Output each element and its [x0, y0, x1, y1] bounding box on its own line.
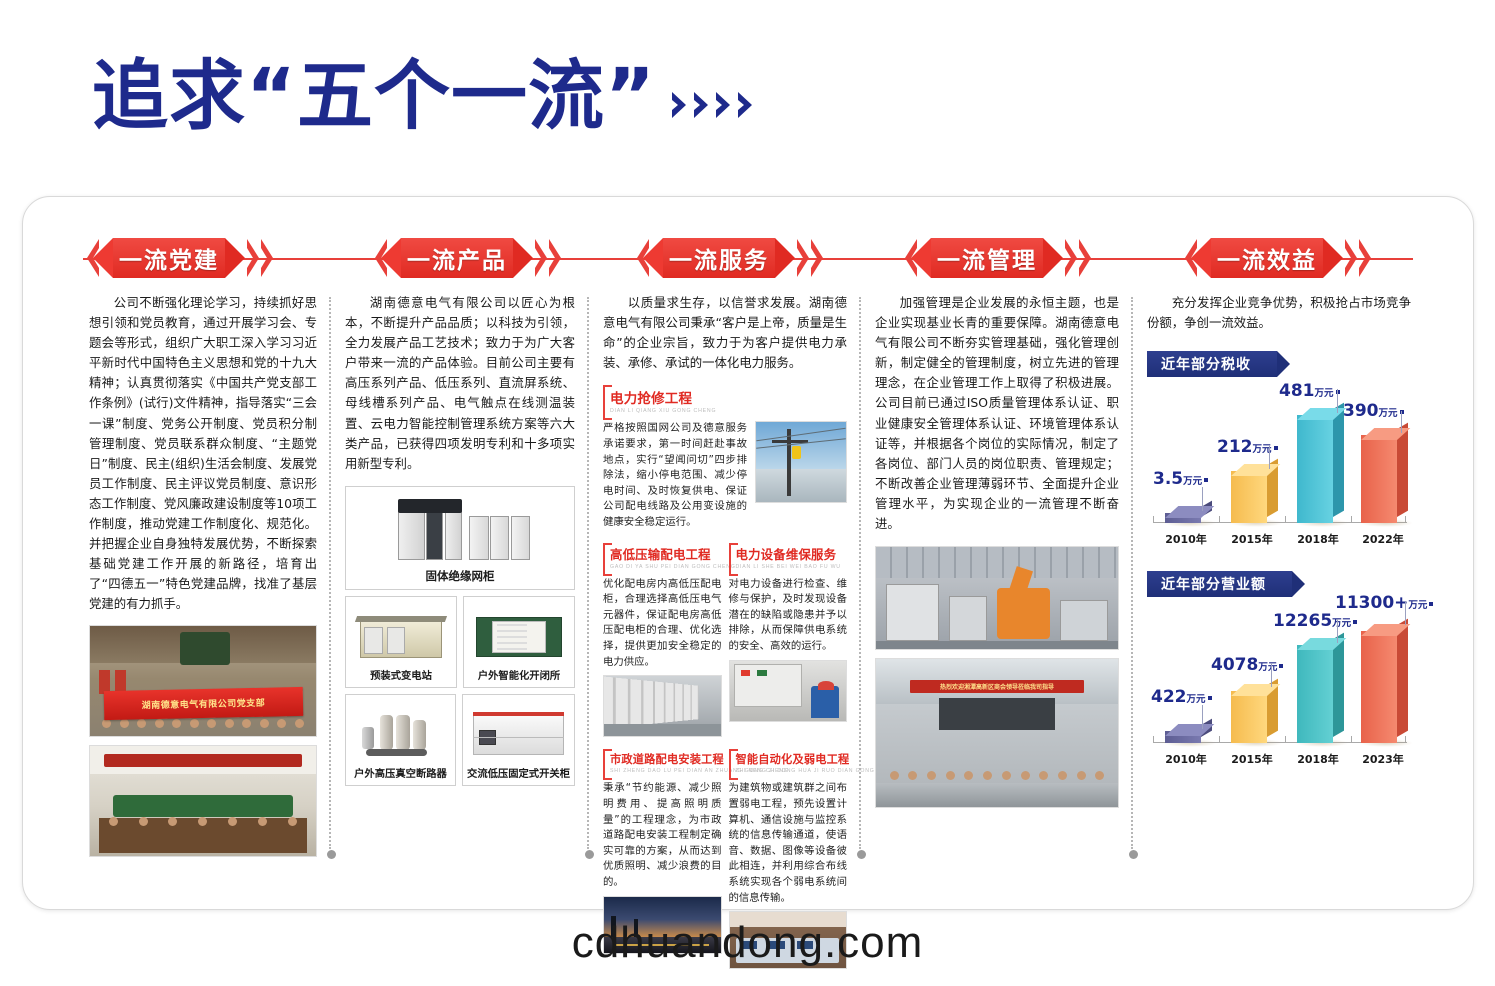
- chart-category-label: 2022年: [1362, 531, 1404, 547]
- section-header-service[interactable]: 一流服务: [633, 233, 827, 283]
- chart-category-label: 2018年: [1297, 531, 1339, 547]
- photo-party-meeting: [89, 745, 317, 857]
- column-product: 湖南德意电气有限公司以匠心为根本，不断提升产品品质；以科技为引领，全力发展产品工…: [331, 293, 589, 885]
- service-heading: 电力抢修工程 DIAN LI QIANG XIU GONG CHENG: [603, 385, 720, 416]
- chart-category-label: 2010年: [1165, 531, 1207, 547]
- service-title: 电力抢修工程: [610, 387, 716, 407]
- chart-tax-revenue: 3.5万元 2010年 212万元 2015年: [1147, 381, 1411, 549]
- section-header-label: 一流党建: [119, 241, 219, 275]
- column-body-text: 充分发挥企业竞争优势，积极抢占市场竞争份额，争创一流效益。: [1147, 293, 1411, 333]
- product-image: [350, 701, 451, 761]
- chart-category-label: 2023年: [1362, 751, 1404, 767]
- product-row: 预装式变电站 户外智能化开闭所: [345, 596, 575, 688]
- service-pinyin: GAO DI YA SHU PEI DIAN GONG CHENG: [610, 564, 736, 570]
- product-caption: 预装式变电站: [370, 667, 432, 682]
- service-block: 严格按照国网公司及德意服务承诺要求，第一时间赶赴事故地点，实行“望闻问切”四步排…: [603, 417, 847, 530]
- column-body-text: 以质量求生存，以信誉求发展。湖南德意电气有限公司秉承“客户是上帝，质量是生命”的…: [603, 293, 847, 373]
- chart-bar: [1231, 471, 1267, 523]
- service-block: 高低压输配电工程 GAO DI YA SHU PEI DIAN GONG CHE…: [603, 531, 722, 738]
- chart-value-label: 422万元: [1151, 687, 1212, 707]
- product-image: [350, 603, 452, 663]
- service-pinyin: DIAN LI SHE BEI WEI BAO FU WU: [736, 564, 841, 570]
- chart-value-label: 4078万元: [1211, 655, 1283, 675]
- section-header-pill: 一流党建: [113, 238, 225, 278]
- chart-value-label: 11300+万元: [1335, 593, 1433, 613]
- chart-bar: [1361, 631, 1397, 743]
- chart-bar: [1297, 645, 1333, 743]
- section-header-benefit[interactable]: 一流效益: [1181, 233, 1375, 283]
- chevron-right-icon: [535, 237, 565, 279]
- chart-value-label: 390万元: [1343, 401, 1404, 421]
- site-watermark: cdhuandong.com: [0, 918, 1495, 968]
- column-management: 加强管理是企业发展的永恒主题，也是企业实现基业长青的重要保障。湖南德意电气有限公…: [861, 293, 1133, 885]
- product-image: [468, 603, 570, 663]
- product-grid: 固体绝缘网柜 预装式变电站: [345, 486, 575, 786]
- columns-container: 公司不断强化理论学习，持续抓好思想引领和党员教育，通过开展学习会、专题会等形式，…: [75, 293, 1425, 885]
- section-header-label: 一流产品: [407, 241, 507, 275]
- poster-page: 追求“五个一流”: [0, 0, 1495, 986]
- page-title: 追求“五个一流”: [92, 58, 756, 134]
- section-header-product[interactable]: 一流产品: [371, 233, 565, 283]
- section-header-pill: 一流服务: [663, 238, 775, 278]
- service-body: 对电力设备进行检查、维修与保护，及时发现设备潜在的缺陷或隐患并予以排除，从而保障…: [729, 577, 848, 655]
- photo-switchgear-room: [603, 675, 722, 737]
- product-card[interactable]: 户外智能化开闭所: [463, 596, 575, 688]
- section-header-row: 一流党建 一流产品: [83, 233, 1413, 283]
- chart-revenue-title: 近年部分营业额: [1147, 571, 1292, 597]
- chart-category-label: 2015年: [1231, 531, 1273, 547]
- chevron-right-icon: [1065, 237, 1095, 279]
- chart-bar: [1297, 415, 1333, 523]
- chart-tax-title: 近年部分税收: [1147, 351, 1277, 377]
- column-benefit: 充分发挥企业竞争优势，积极抢占市场竞争份额，争创一流效益。 近年部分税收: [1133, 293, 1425, 885]
- photo-visit-group: 热烈欢迎湘潭高新区商会领导莅临我司指导: [875, 658, 1119, 808]
- chart-value-label: 3.5万元: [1153, 469, 1208, 489]
- chart-annual-revenue: 422万元 2010年 4078万元 2015年: [1147, 601, 1411, 769]
- chart-bar: [1231, 691, 1267, 743]
- chevron-right-icon: [797, 237, 827, 279]
- service-body: 严格按照国网公司及德意服务承诺要求，第一时间赶赴事故地点，实行“望闻问切”四步排…: [603, 421, 747, 530]
- service-heading: 电力设备维保服务 DIAN LI SHE BEI WEI BAO FU WU: [729, 543, 845, 572]
- product-card[interactable]: 预装式变电站: [345, 596, 457, 688]
- chart-category-label: 2018年: [1297, 751, 1339, 767]
- photo-power-repair: [755, 421, 847, 503]
- section-header-pill: 一流产品: [401, 238, 513, 278]
- service-body: 秉承“节约能源、减少照明费用、提高照明质量”的工程理念，为市政道路配电安装工程制…: [603, 781, 722, 890]
- product-image: [467, 701, 570, 761]
- service-pair: 高低压输配电工程 GAO DI YA SHU PEI DIAN GONG CHE…: [603, 531, 847, 738]
- service-title: 电力设备维保服务: [736, 545, 841, 563]
- product-card[interactable]: 交流低压固定式开关柜: [462, 694, 575, 786]
- product-card[interactable]: 户外高压真空断路器: [345, 694, 456, 786]
- section-header-pill: 一流效益: [1211, 238, 1323, 278]
- column-party-building: 公司不断强化理论学习，持续抓好思想引领和党员教育，通过开展学习会、专题会等形式，…: [75, 293, 331, 885]
- product-card[interactable]: 固体绝缘网柜: [345, 486, 575, 590]
- service-pinyin: DIAN LI QIANG XIU GONG CHENG: [610, 408, 716, 414]
- photo-party-branch-group: 湖南德意电气有限公司党支部: [89, 625, 317, 737]
- chart-value-label: 12265万元: [1273, 611, 1357, 631]
- service-body: 为建筑物或建筑群之间布置弱电工程，预先设置计算机、通信设施与监控系统的信息传输通…: [729, 781, 848, 906]
- product-row: 固体绝缘网柜: [345, 486, 575, 590]
- chevron-decoration-icon: [670, 88, 756, 122]
- service-title: 高低压输配电工程: [610, 545, 736, 563]
- content-card: 一流党建 一流产品: [22, 196, 1474, 910]
- product-caption: 交流低压固定式开关柜: [467, 765, 570, 780]
- product-caption: 户外高压真空断路器: [354, 765, 447, 780]
- section-header-label: 一流管理: [937, 241, 1037, 275]
- chart-category-label: 2015年: [1231, 751, 1273, 767]
- product-image: [350, 493, 570, 564]
- photo-workshop-robot: [875, 546, 1119, 650]
- service-body: 优化配电房内高低压配电柜，合理选择高低压电气元器件，保证配电房高低压配电柜的合理…: [603, 577, 722, 671]
- section-header-pill: 一流管理: [931, 238, 1043, 278]
- section-header-label: 一流服务: [669, 241, 769, 275]
- service-heading: 高低压输配电工程 GAO DI YA SHU PEI DIAN GONG CHE…: [603, 543, 740, 572]
- chart-category-label: 2010年: [1165, 751, 1207, 767]
- chart-value-label: 481万元: [1279, 381, 1340, 401]
- section-header-management[interactable]: 一流管理: [901, 233, 1095, 283]
- column-service: 以质量求生存，以信誉求发展。湖南德意电气有限公司秉承“客户是上帝，质量是生命”的…: [589, 293, 861, 885]
- product-row: 户外高压真空断路器 交流低压固定式开关柜: [345, 694, 575, 786]
- photo-banner: 湖南德意电气有限公司党支部: [103, 687, 302, 720]
- chevron-right-icon: [1345, 237, 1375, 279]
- chart-bar: [1361, 435, 1397, 523]
- chart-bar: [1165, 513, 1201, 523]
- photo-banner-text: 湖南德意电气有限公司党支部: [141, 696, 265, 712]
- chart-tax-title-wrap: 近年部分税收: [1147, 351, 1411, 377]
- section-header-party-building[interactable]: 一流党建: [83, 233, 277, 283]
- service-block: 电力设备维保服务 DIAN LI SHE BEI WEI BAO FU WU 对…: [729, 531, 848, 738]
- photo-equipment-maintenance: [729, 660, 848, 722]
- product-caption: 固体绝缘网柜: [426, 568, 495, 584]
- chevron-right-icon: [247, 237, 277, 279]
- column-body-text: 湖南德意电气有限公司以匠心为根本，不断提升产品品质；以科技为引领，全力发展产品工…: [345, 293, 575, 474]
- section-header-label: 一流效益: [1217, 241, 1317, 275]
- page-title-text: 追求“五个一流”: [92, 58, 656, 134]
- column-body-text: 公司不断强化理论学习，持续抓好思想引领和党员教育，通过开展学习会、专题会等形式，…: [89, 293, 317, 615]
- chart-bar: [1165, 731, 1201, 743]
- photo-banner-text: 热烈欢迎湘潭高新区商会领导莅临我司指导: [940, 682, 1054, 691]
- column-body-text: 加强管理是企业发展的永恒主题，也是企业实现基业长青的重要保障。湖南德意电气有限公…: [875, 293, 1119, 534]
- product-caption: 户外智能化开闭所: [478, 667, 560, 682]
